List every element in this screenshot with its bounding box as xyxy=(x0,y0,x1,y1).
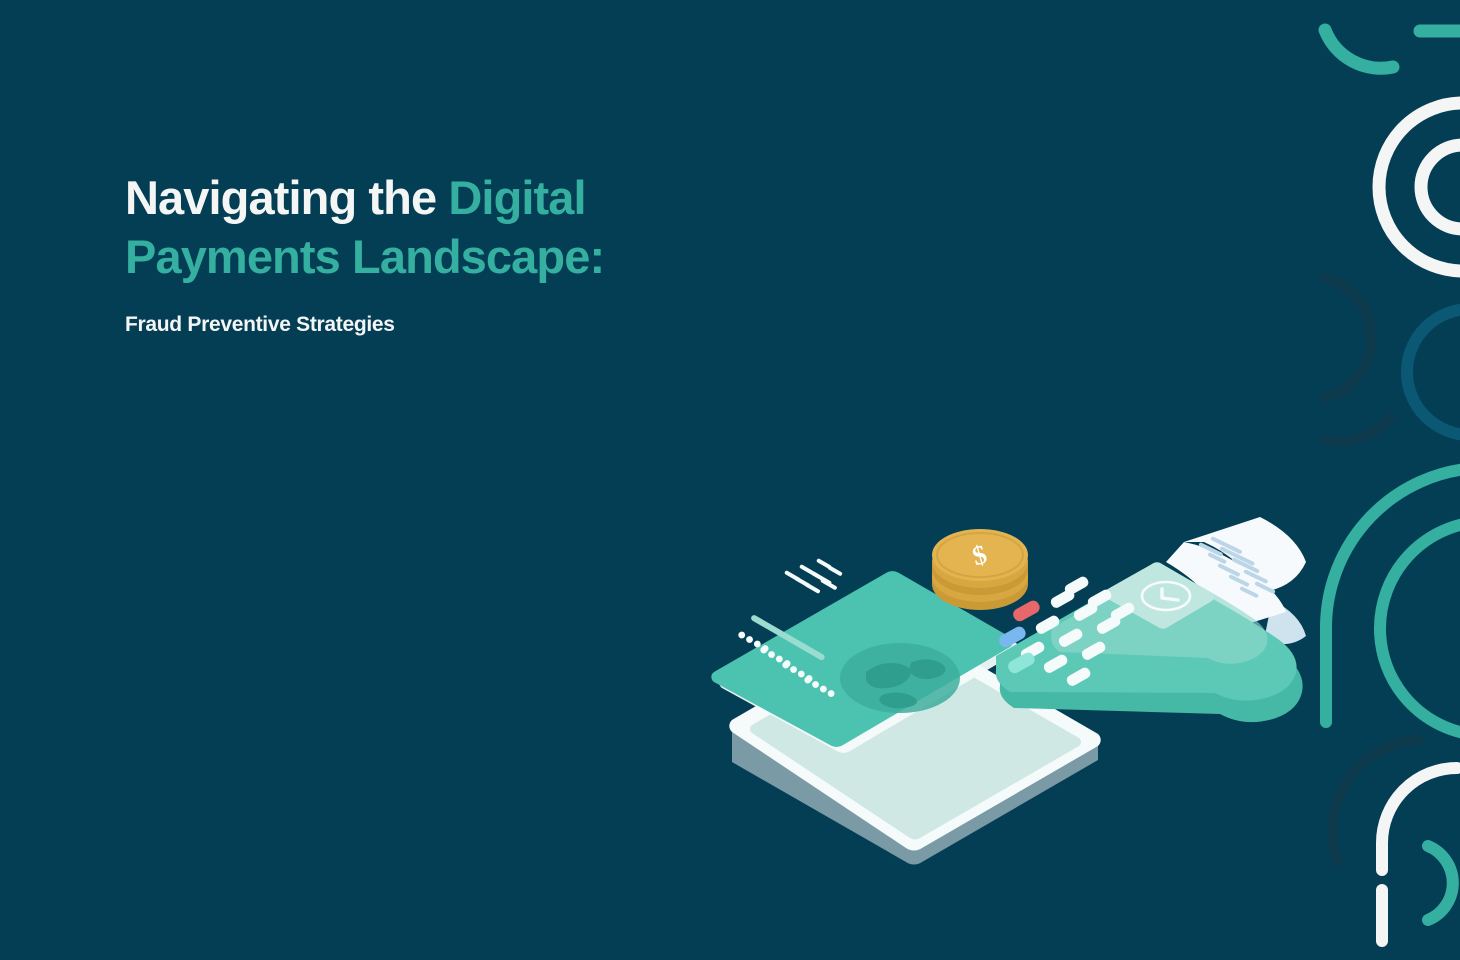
title-accent-part: Digital xyxy=(448,171,585,224)
arc-white-outer xyxy=(1379,103,1460,271)
credit-card-chip-lines xyxy=(784,558,843,594)
arc-teal-lower-inner xyxy=(1380,522,1460,735)
pos-terminal-key-red xyxy=(1011,598,1042,623)
title-white-part: Navigating the xyxy=(125,171,448,224)
arc-navy-mid-low xyxy=(1325,418,1390,441)
arc-teal-top-small xyxy=(1325,30,1393,68)
page-title-line-1: Navigating the Digital xyxy=(125,168,765,227)
page-subtitle: Fraud Preventive Strategies xyxy=(125,286,765,337)
coin-stack: $ xyxy=(932,529,1028,610)
title-block: Navigating the Digital Payments Landscap… xyxy=(125,168,765,337)
page-title-line-2: Payments Landscape: xyxy=(125,227,765,286)
arc-white-inner xyxy=(1421,145,1460,229)
arc-teal-lower-outer xyxy=(1326,468,1460,722)
arc-teal-bottom-small xyxy=(1428,846,1453,920)
payment-illustration: $ xyxy=(700,512,1340,892)
arc-white-bottom xyxy=(1382,768,1457,870)
slide-canvas: Navigating the Digital Payments Landscap… xyxy=(0,0,1460,960)
arc-blue-mid xyxy=(1407,309,1460,435)
arc-navy-mid xyxy=(1325,278,1371,398)
arc-navy-bottom xyxy=(1332,740,1418,861)
